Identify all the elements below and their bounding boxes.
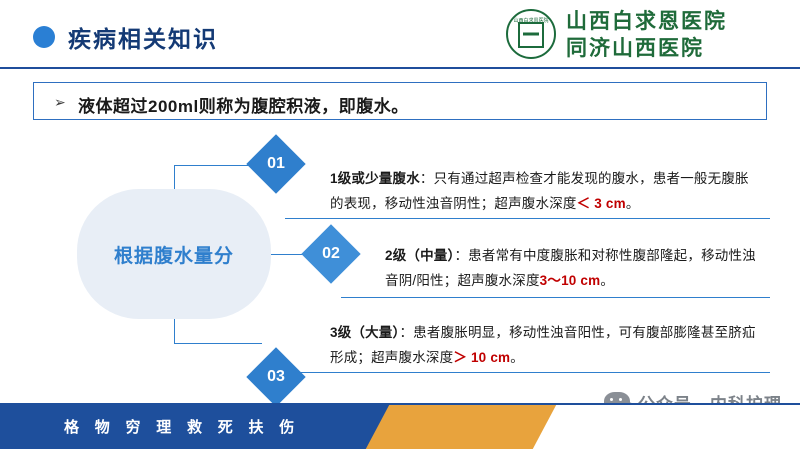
wechat-icon-dot-1	[610, 398, 613, 401]
item-title-02: 2级（中量）	[385, 248, 454, 263]
item-suffix-01: 。	[626, 196, 640, 211]
slide-footer: 格 物 穷 理 救 死 扶 伤	[0, 403, 800, 449]
category-callout: 根据腹水量分	[77, 189, 271, 319]
item-suffix-03: 。	[510, 350, 524, 365]
header-bullet-icon	[33, 26, 55, 48]
footer-divider	[0, 403, 800, 405]
item-title-01: 1级或少量腹水	[330, 171, 420, 186]
item-suffix-02: 。	[600, 273, 614, 288]
definition-box: ➢ 液体超过200ml则称为腹腔积液，即腹水。	[33, 82, 767, 120]
item-highlight-03: ＞ 10 cm	[453, 350, 510, 365]
connector-vertical-bottom	[174, 319, 175, 343]
footer-motto: 格 物 穷 理 救 死 扶 伤	[64, 416, 300, 437]
underline-03	[285, 372, 770, 373]
underline-01	[285, 218, 770, 219]
seal-bar-shape	[523, 33, 539, 36]
arrow-bullet-icon: ➢	[54, 94, 66, 111]
hospital-logo: 山西白求恩医院 山西白求恩医院 同济山西医院	[496, 7, 786, 63]
slide: 疾病相关知识 山西白求恩医院 山西白求恩医院 同济山西医院 ➢ 液体超过200m…	[0, 0, 800, 449]
connector-vertical-top	[174, 165, 175, 189]
page-title: 疾病相关知识	[68, 20, 218, 54]
slide-header: 疾病相关知识 山西白求恩医院 山西白求恩医院 同济山西医院	[0, 0, 800, 68]
badge-number-03: 03	[255, 356, 297, 398]
hospital-seal-icon: 山西白求恩医院	[506, 9, 556, 59]
item-highlight-01: ＜ 3 cm	[577, 196, 626, 211]
item-highlight-02: 3～10 cm	[540, 273, 601, 288]
connector-line-01	[174, 165, 254, 166]
definition-text: 液体超过200ml则称为腹腔积液，即腹水。	[78, 92, 409, 117]
item-text-02: 2级（中量）：患者常有中度腹胀和对称性腹部隆起，移动性浊音阴/阳性；超声腹水深度…	[385, 243, 765, 293]
hospital-name-line1: 山西白求恩医院	[566, 8, 781, 35]
footer-white-band	[533, 403, 800, 449]
item-text-03: 3级（大量）：患者腹胀明显，移动性浊音阳性，可有腹部膨隆甚至脐疝形成；超声腹水深…	[330, 320, 760, 370]
badge-number-02: 02	[310, 233, 352, 275]
item-text-01: 1级或少量腹水：只有通过超声检查才能发现的腹水，患者一般无腹胀的表现，移动性浊音…	[330, 166, 760, 216]
wechat-icon-dot-2	[619, 398, 622, 401]
badge-number-01: 01	[255, 143, 297, 185]
header-divider	[0, 67, 800, 69]
hospital-name-line2: 同济山西医院	[566, 35, 781, 62]
hospital-name: 山西白求恩医院 同济山西医院	[566, 8, 781, 62]
category-callout-label: 根据腹水量分	[77, 241, 271, 268]
underline-02	[341, 297, 770, 298]
connector-line-03	[174, 343, 262, 344]
item-title-03: 3级（大量）	[330, 325, 399, 340]
